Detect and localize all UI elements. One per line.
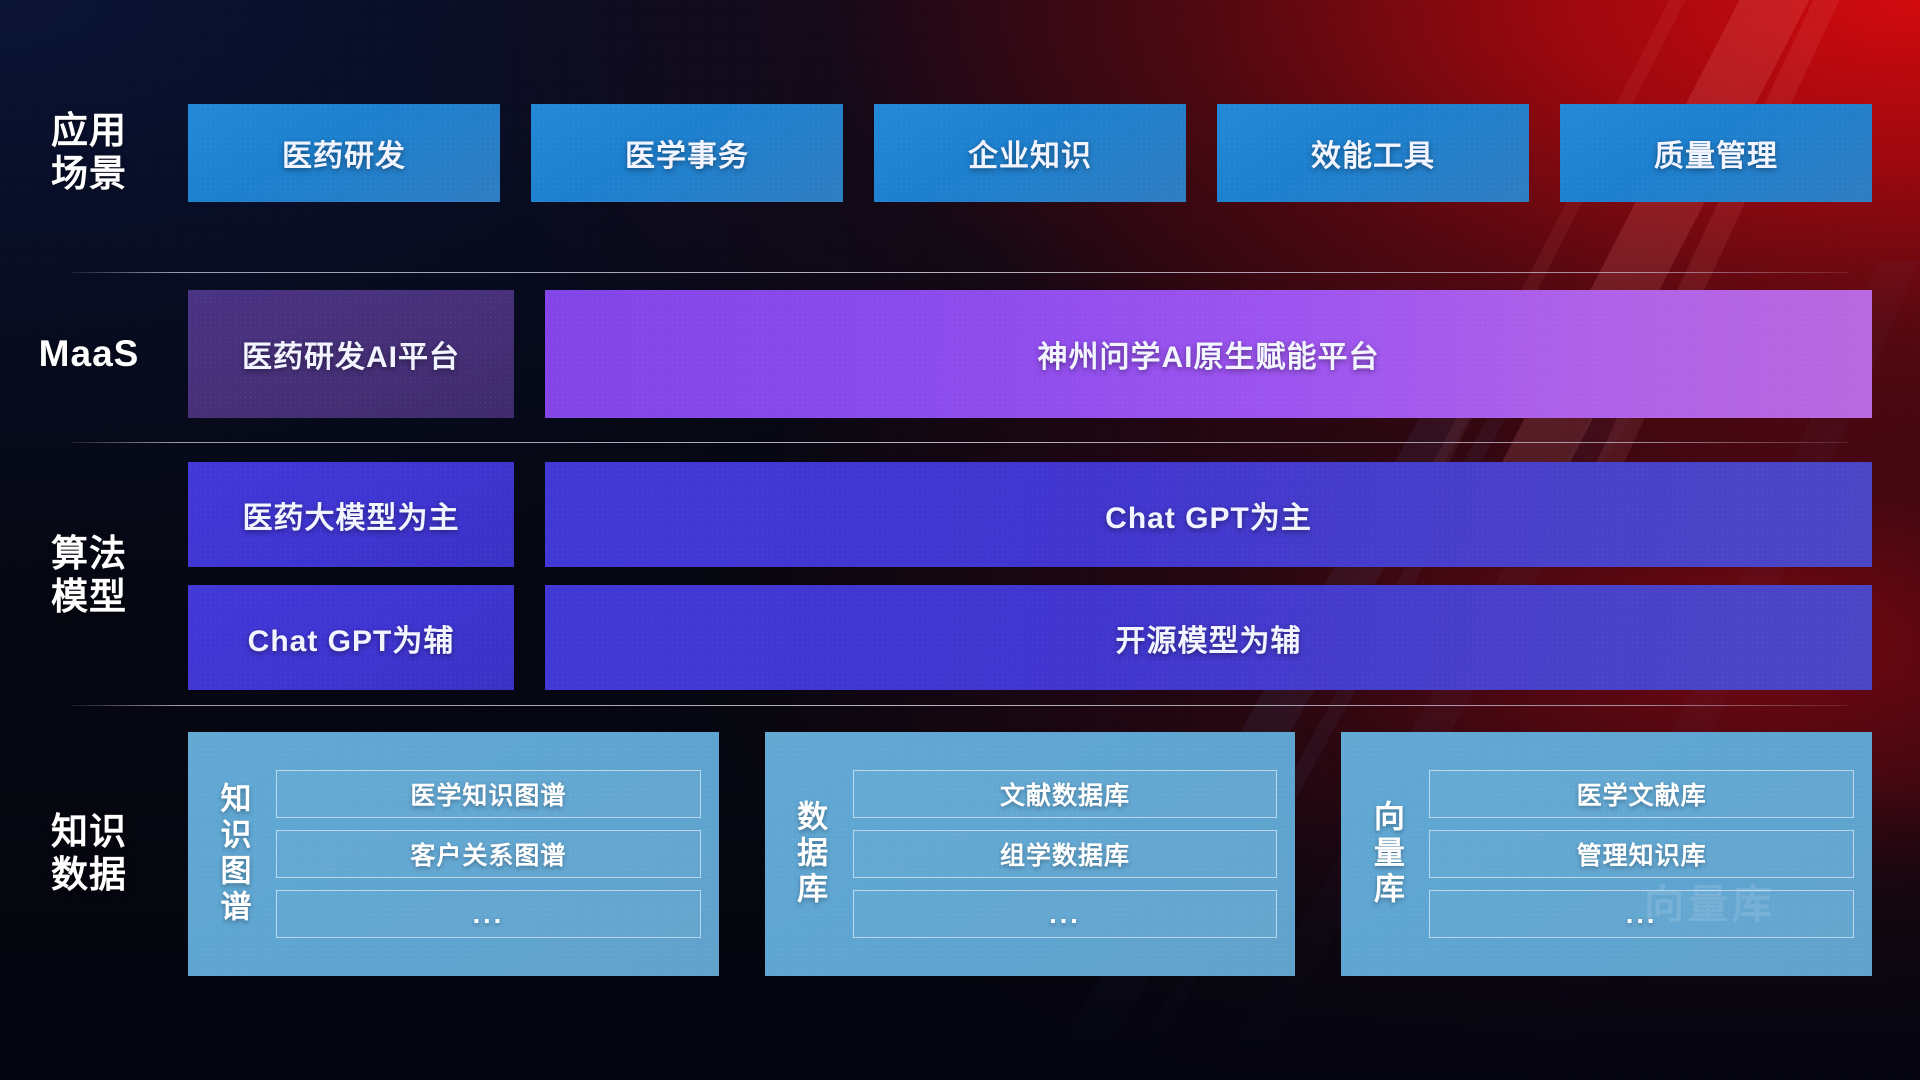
- knowledge-group-items: 医学知识图谱 客户关系图谱 ...: [264, 770, 701, 938]
- row-knowledge-data: 知识 数据 知识图谱 医学知识图谱 客户关系图谱 ... 数据库: [0, 732, 1920, 976]
- knowledge-item-label: 医学文献库: [1577, 776, 1707, 812]
- row-label-algorithm-model: 算法 模型: [0, 533, 178, 619]
- row-label-maas: MaaS: [0, 333, 178, 376]
- algo-card-label: Chat GPT为主: [1105, 493, 1312, 537]
- divider-2: [72, 442, 1848, 443]
- algorithm-primary-line: 医药大模型为主 Chat GPT为主: [188, 462, 1872, 567]
- divider-1: [72, 272, 1848, 273]
- app-card-label: 医学事务: [625, 131, 749, 175]
- knowledge-group-title: 向量库: [1355, 745, 1417, 963]
- row-maas: MaaS 医药研发AI平台 神州问学AI原生赋能平台: [0, 290, 1920, 418]
- knowledge-item-label: 文献数据库: [1000, 776, 1130, 812]
- algorithm-model-cards: 医药大模型为主 Chat GPT为主 Chat GPT为辅 开源模型为辅: [178, 462, 1920, 690]
- algo-card-chatgpt-primary[interactable]: Chat GPT为主: [545, 462, 1872, 567]
- app-card-efficiency-tools[interactable]: 效能工具: [1217, 104, 1529, 202]
- architecture-diagram: 应用 场景 医药研发 医学事务 企业知识 效能工具 质量管理 MaaS 医药研发…: [0, 0, 1920, 1080]
- knowledge-group-vector-store[interactable]: 向量库 医学文献库 管理知识库 ... 向量库: [1341, 732, 1872, 976]
- knowledge-group-title: 知识图谱: [202, 745, 264, 963]
- app-card-label: 企业知识: [968, 131, 1092, 175]
- maas-card-shenzhou-wenxue-platform[interactable]: 神州问学AI原生赋能平台: [545, 290, 1872, 418]
- algorithm-secondary-line: Chat GPT为辅 开源模型为辅: [188, 585, 1872, 690]
- app-card-quality-management[interactable]: 质量管理: [1560, 104, 1872, 202]
- knowledge-group-database[interactable]: 数据库 文献数据库 组学数据库 ...: [765, 732, 1296, 976]
- knowledge-item-label: 组学数据库: [1000, 836, 1130, 872]
- knowledge-item-label: ...: [1049, 899, 1081, 930]
- knowledge-group-title: 数据库: [779, 745, 841, 963]
- knowledge-group-knowledge-graph[interactable]: 知识图谱 医学知识图谱 客户关系图谱 ...: [188, 732, 719, 976]
- knowledge-item-more[interactable]: ...: [853, 890, 1278, 938]
- divider-3: [72, 705, 1848, 706]
- knowledge-item-label: ...: [1626, 899, 1658, 930]
- maas-card-medicine-rd-ai-platform[interactable]: 医药研发AI平台: [188, 290, 514, 418]
- knowledge-item-label: ...: [473, 899, 505, 930]
- knowledge-item-customer-relation-graph[interactable]: 客户关系图谱: [276, 830, 701, 878]
- app-card-enterprise-knowledge[interactable]: 企业知识: [874, 104, 1186, 202]
- algo-card-label: 医药大模型为主: [243, 493, 460, 537]
- knowledge-item-medical-literature-store[interactable]: 医学文献库: [1429, 770, 1854, 818]
- knowledge-group-items: 医学文献库 管理知识库 ...: [1417, 770, 1854, 938]
- app-card-medicine-rd[interactable]: 医药研发: [188, 104, 500, 202]
- maas-card-label: 医药研发AI平台: [242, 332, 460, 376]
- knowledge-data-groups: 知识图谱 医学知识图谱 客户关系图谱 ... 数据库: [178, 732, 1920, 976]
- knowledge-item-more[interactable]: ...: [1429, 890, 1854, 938]
- knowledge-item-label: 医学知识图谱: [410, 776, 566, 812]
- algo-card-medicine-large-model-primary[interactable]: 医药大模型为主: [188, 462, 514, 567]
- knowledge-item-label: 管理知识库: [1577, 836, 1707, 872]
- algo-card-chatgpt-secondary[interactable]: Chat GPT为辅: [188, 585, 514, 690]
- knowledge-item-literature-database[interactable]: 文献数据库: [853, 770, 1278, 818]
- maas-card-label: 神州问学AI原生赋能平台: [1038, 332, 1380, 376]
- row-label-application-scenarios: 应用 场景: [0, 110, 178, 196]
- knowledge-item-management-knowledge-store[interactable]: 管理知识库: [1429, 830, 1854, 878]
- app-card-label: 医药研发: [282, 131, 406, 175]
- knowledge-group-items: 文献数据库 组学数据库 ...: [841, 770, 1278, 938]
- app-card-label: 质量管理: [1654, 131, 1778, 175]
- algo-card-label: 开源模型为辅: [1116, 616, 1302, 660]
- algo-card-label: Chat GPT为辅: [248, 616, 455, 660]
- app-card-medical-affairs[interactable]: 医学事务: [531, 104, 843, 202]
- knowledge-item-medical-knowledge-graph[interactable]: 医学知识图谱: [276, 770, 701, 818]
- knowledge-item-omics-database[interactable]: 组学数据库: [853, 830, 1278, 878]
- row-label-knowledge-data: 知识 数据: [0, 811, 178, 897]
- row-algorithm-model: 算法 模型 医药大模型为主 Chat GPT为主 Chat GPT为辅 开源模型…: [0, 462, 1920, 690]
- algo-card-opensource-model-secondary[interactable]: 开源模型为辅: [545, 585, 1872, 690]
- maas-cards: 医药研发AI平台 神州问学AI原生赋能平台: [178, 290, 1920, 418]
- application-scenario-cards: 医药研发 医学事务 企业知识 效能工具 质量管理: [178, 104, 1920, 202]
- row-application-scenarios: 应用 场景 医药研发 医学事务 企业知识 效能工具 质量管理: [0, 104, 1920, 202]
- knowledge-item-label: 客户关系图谱: [410, 836, 566, 872]
- knowledge-item-more[interactable]: ...: [276, 890, 701, 938]
- app-card-label: 效能工具: [1311, 131, 1435, 175]
